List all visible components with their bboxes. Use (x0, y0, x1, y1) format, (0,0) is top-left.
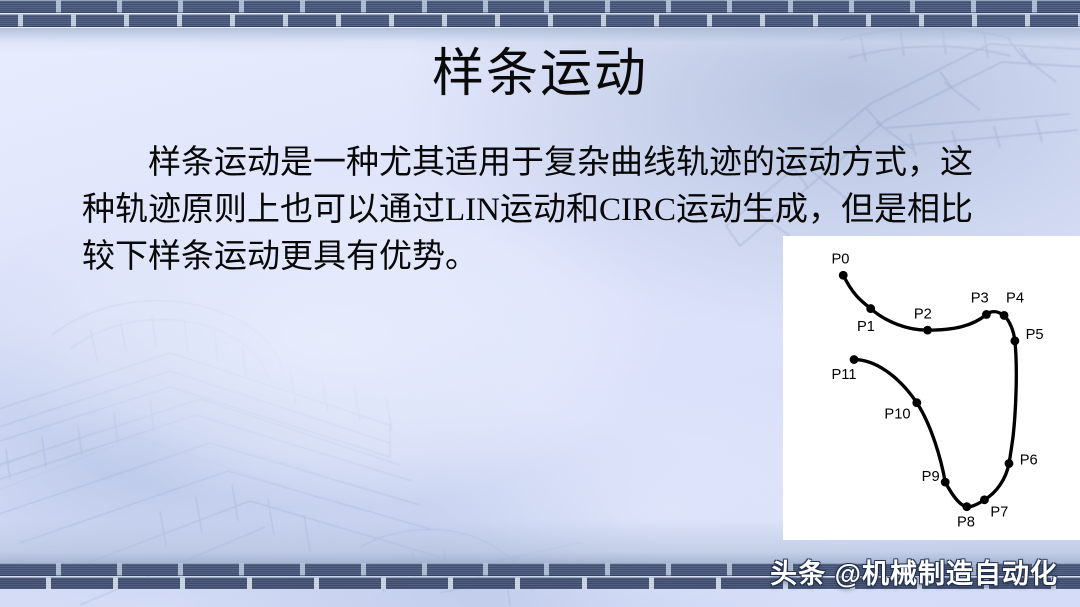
spline-label-p9: P9 (922, 469, 940, 485)
spline-label-p8: P8 (957, 514, 975, 530)
spline-label-p2: P2 (914, 306, 932, 322)
spline-point-p2 (923, 326, 932, 335)
spline-point-p11 (850, 355, 859, 364)
spline-point-p10 (912, 398, 921, 407)
spline-point-p5 (1010, 337, 1019, 346)
spline-point-p7 (980, 495, 989, 504)
bridge-artwork-left (0, 275, 580, 607)
spline-label-p10: P10 (884, 406, 910, 422)
presentation-slide: 样条运动 样条运动是一种尤其适用于复杂曲线轨迹的运动方式，这种轨迹原则上也可以通… (0, 0, 1080, 607)
spline-label-p6: P6 (1020, 452, 1038, 468)
spline-control-points: P0P1P2P3P4P5P6P7P8P9P10P11 (831, 251, 1043, 530)
spline-label-p0: P0 (831, 251, 849, 267)
slide-title: 样条运动 (0, 45, 1080, 105)
spline-point-p6 (1005, 459, 1014, 468)
spline-point-p9 (941, 478, 950, 487)
spline-point-p1 (866, 304, 875, 313)
spline-label-p1: P1 (857, 319, 875, 335)
spline-label-p7: P7 (990, 504, 1008, 520)
spline-point-p4 (1000, 311, 1009, 320)
spline-point-p3 (982, 310, 991, 319)
spline-figure: P0P1P2P3P4P5P6P7P8P9P10P11 (783, 236, 1080, 540)
spline-label-p11: P11 (831, 367, 856, 383)
spline-label-p4: P4 (1006, 291, 1024, 307)
spline-label-p5: P5 (1026, 327, 1044, 343)
spline-point-p8 (962, 502, 971, 511)
spline-label-p3: P3 (971, 291, 989, 307)
channel-watermark: 头条 @机械制造自动化 (770, 552, 1058, 591)
spline-diagram-svg: P0P1P2P3P4P5P6P7P8P9P10P11 (783, 236, 1080, 540)
top-brick-border (0, 0, 1080, 28)
spline-point-p0 (839, 271, 848, 280)
